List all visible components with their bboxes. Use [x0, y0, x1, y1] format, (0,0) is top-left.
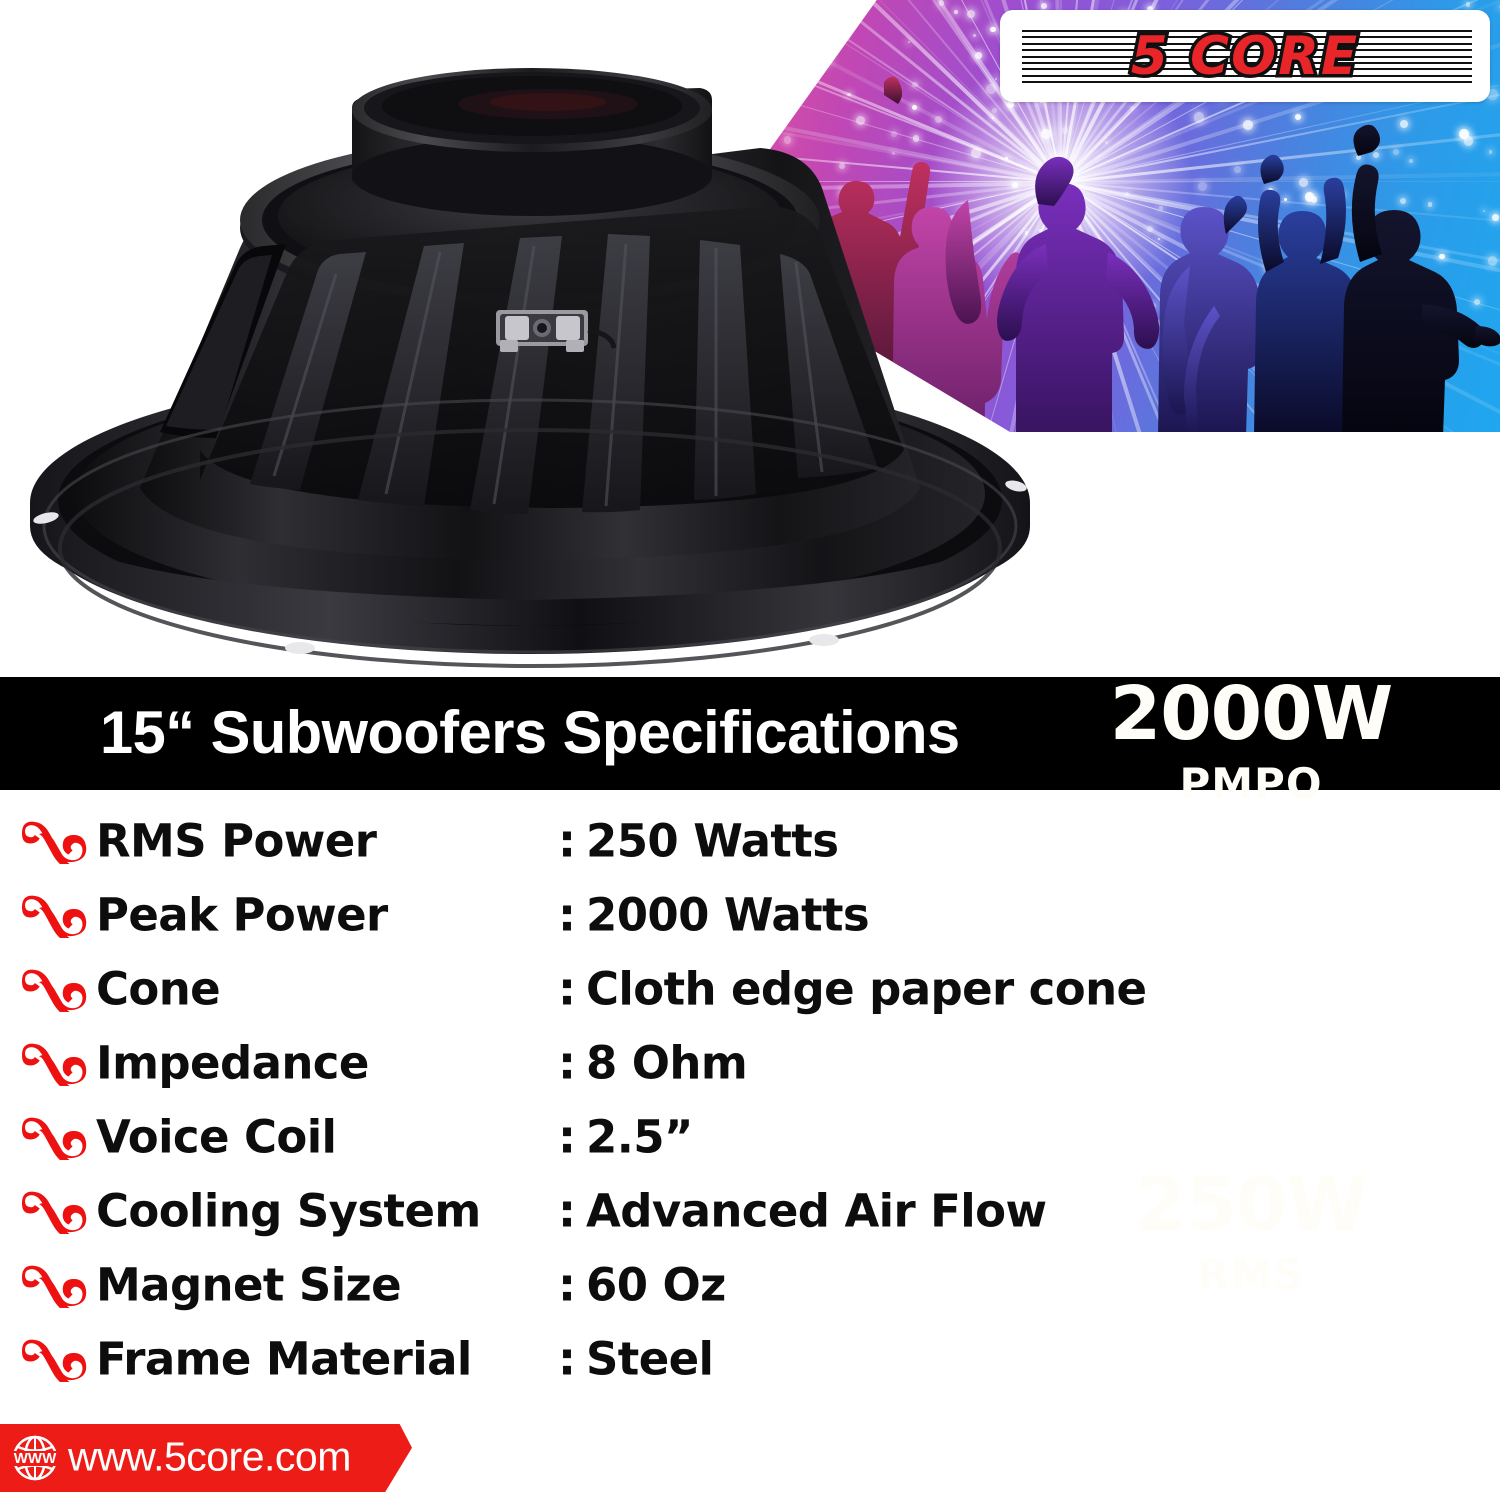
spec-row: Frame Material:Steel — [0, 1324, 1060, 1398]
red-wave-ornament-icon — [18, 1264, 88, 1308]
brand-logo: 5 CORE — [1000, 10, 1490, 102]
spec-value: Advanced Air Flow — [586, 1184, 1046, 1237]
spec-separator: : — [558, 1258, 576, 1311]
red-wave-ornament-icon — [18, 894, 88, 938]
red-wave-ornament-icon — [18, 968, 88, 1012]
www-globe-icon: WWW — [10, 1433, 60, 1483]
spec-label: Frame Material — [96, 1332, 472, 1385]
red-wave-ornament-icon — [18, 1190, 88, 1234]
badge-unit: RMS — [1197, 1254, 1304, 1296]
badge-unit: PMPO — [1179, 763, 1322, 805]
spec-separator: : — [558, 888, 576, 941]
spec-separator: : — [558, 1036, 576, 1089]
spec-label: Peak Power — [96, 888, 388, 941]
red-wave-ornament-icon — [18, 820, 88, 864]
badge-peak-power: 2000W PMPO — [1048, 585, 1454, 897]
spec-row: Cooling System:Advanced Air Flow — [0, 1176, 1060, 1250]
page-title: 15“ Subwoofers Specifications — [100, 698, 960, 767]
spec-label: Cooling System — [96, 1184, 481, 1237]
spec-separator: : — [558, 1184, 576, 1237]
spec-row: Cone:Cloth edge paper cone — [0, 954, 1060, 1028]
badge-rms-power: 250W RMS — [1048, 1086, 1454, 1378]
spec-separator: : — [558, 962, 576, 1015]
spec-value: 8 Ohm — [586, 1036, 747, 1089]
spec-row: Magnet Size:60 Oz — [0, 1250, 1060, 1324]
spec-separator: : — [558, 1110, 576, 1163]
globe-www-text: WWW — [14, 1450, 57, 1467]
spec-label: Cone — [96, 962, 220, 1015]
spec-row: Impedance:8 Ohm — [0, 1028, 1060, 1102]
spec-label: RMS Power — [96, 814, 376, 867]
spec-row: Peak Power:2000 Watts — [0, 880, 1060, 954]
website-url: www.5core.com — [68, 1434, 351, 1481]
spec-value: 250 Watts — [586, 814, 838, 867]
logo-text: 5 CORE — [1131, 26, 1359, 87]
badge-value: 250W — [1135, 1168, 1367, 1242]
spec-value: 2.5” — [586, 1110, 693, 1163]
spec-row: RMS Power:250 Watts — [0, 806, 1060, 880]
spec-row: Voice Coil:2.5” — [0, 1102, 1060, 1176]
specifications-list: RMS Power:250 WattsPeak Power:2000 Watts… — [0, 806, 1060, 1398]
red-wave-ornament-icon — [18, 1116, 88, 1160]
spec-separator: : — [558, 814, 576, 867]
red-wave-ornament-icon — [18, 1042, 88, 1086]
spec-value: Steel — [586, 1332, 713, 1385]
red-wave-ornament-icon — [18, 1338, 88, 1382]
spec-label: Impedance — [96, 1036, 369, 1089]
website-footer-banner[interactable]: WWW www.5core.com — [0, 1424, 412, 1492]
spec-separator: : — [558, 1332, 576, 1385]
spec-label: Voice Coil — [96, 1110, 336, 1163]
infographic-canvas: 5 CORE — [0, 0, 1500, 1500]
badge-value: 2000W — [1110, 677, 1393, 751]
logo-wordmark: 5 CORE — [1000, 10, 1490, 102]
spec-value: 2000 Watts — [586, 888, 869, 941]
spec-value: 60 Oz — [586, 1258, 726, 1311]
spec-label: Magnet Size — [96, 1258, 401, 1311]
spec-value: Cloth edge paper cone — [586, 962, 1146, 1015]
subwoofer-product-image — [0, 48, 1060, 668]
